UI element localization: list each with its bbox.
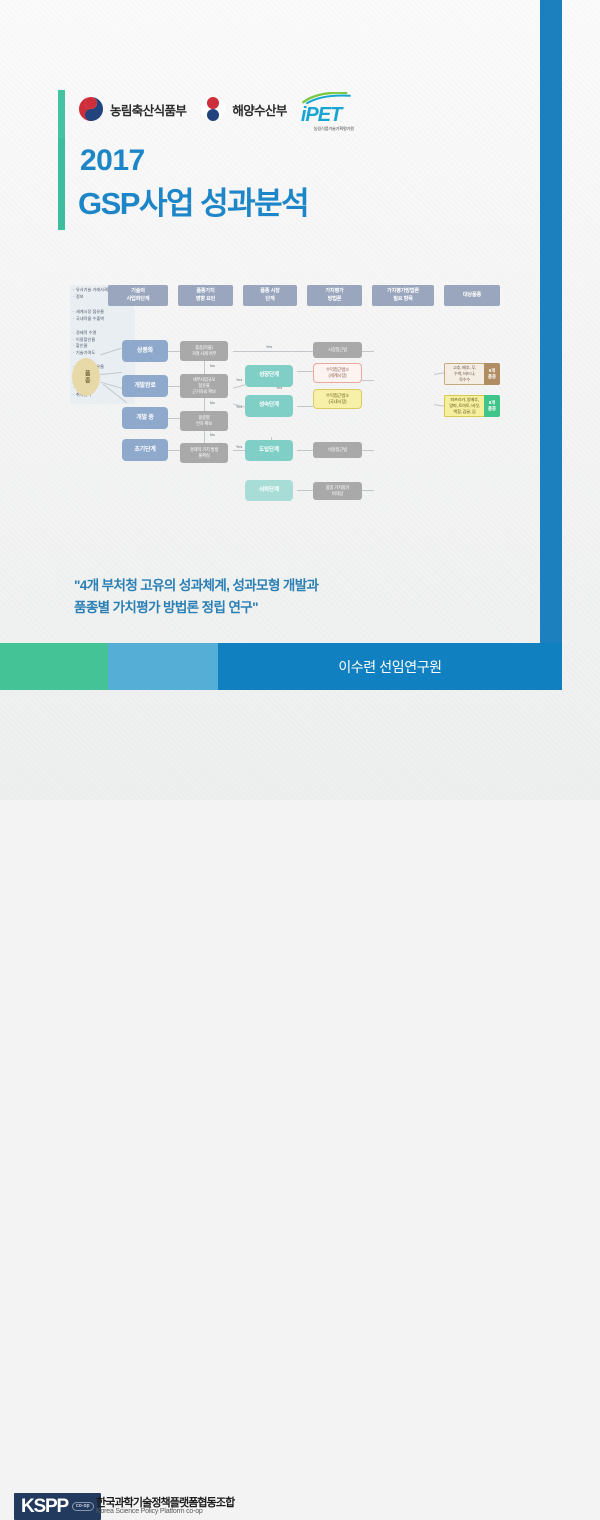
diagram-header-0: 기술의사업화단계 bbox=[108, 285, 168, 306]
edge-label-yes: Yes bbox=[236, 445, 242, 449]
stage-node-2[interactable]: 개발 중 bbox=[122, 407, 168, 429]
edge-label-no: No bbox=[210, 364, 215, 368]
factor-node-1[interactable]: 세부사업규모점유율근거자료 확보 bbox=[180, 374, 228, 398]
edge-label-yes: Yes bbox=[266, 345, 272, 349]
requirement-list-1[interactable]: 세계시장 점유율 국내작물 수출액 bbox=[70, 307, 135, 328]
species-list-1: 파프리카, 양배추,양파, 토마토, 버섯,백합, 감귤, 김 bbox=[444, 395, 484, 417]
species-count-0: 6개품종 bbox=[484, 363, 500, 385]
edge bbox=[168, 386, 180, 387]
edge bbox=[168, 351, 180, 352]
method-node-2[interactable]: 수익접근법②(국내시장) bbox=[313, 389, 362, 409]
kspp-wordmark: KSPP bbox=[21, 1497, 68, 1516]
edge bbox=[362, 351, 374, 352]
edge bbox=[362, 450, 374, 451]
method-node-1[interactable]: 수익접근법①(세계시장) bbox=[313, 363, 362, 383]
page-title: GSP사업 성과분석 bbox=[78, 178, 308, 223]
edge-label-no: No bbox=[210, 401, 215, 405]
organization-name-en: Korea Science Policy Platform co-op bbox=[96, 1508, 203, 1515]
factor-node-3[interactable]: 경제적 가치 발생불확실 bbox=[180, 443, 228, 463]
species-box-1[interactable]: 파프리카, 양배추,양파, 토마토, 버섯,백합, 감귤, 김 8개품종 bbox=[444, 395, 500, 417]
kspp-logo: KSPP co-op bbox=[14, 1493, 101, 1520]
edge bbox=[297, 490, 313, 491]
ipet-logo: iPET 농림식품기술기획평가원 bbox=[301, 92, 367, 126]
diagram-header-5: 대상품종 bbox=[444, 285, 500, 306]
method-node-4[interactable]: 품종 가치평가비대상 bbox=[313, 482, 362, 500]
ministry-logo-group: 농림축산식품부 해양수산부 iPET 농림식품기술기획평가원 bbox=[78, 92, 367, 126]
species-box-0[interactable]: 고추, 배추, 무,수박, 버드나,옥수수 6개품종 bbox=[444, 363, 500, 385]
edge bbox=[297, 371, 313, 372]
flow-diagram: 기술의사업화단계 품종가치영향 요인 품종 시장단계 가치평가방법론 가치평가방… bbox=[70, 285, 500, 535]
edge bbox=[233, 450, 245, 451]
factor-node-2[interactable]: 품종별연차 확보 bbox=[180, 411, 228, 431]
footer: KSPP co-op 한국과학기술정책플랫폼협동조합 Korea Science… bbox=[0, 743, 600, 800]
report-subtitle-quote: "4개 부처청 고유의 성과체계, 성과모형 개발과품종별 가치평가 방법론 정… bbox=[74, 575, 474, 620]
stage-node-3[interactable]: 초기단계 bbox=[122, 439, 168, 461]
diagram-header-3: 가치평가방법론 bbox=[307, 285, 362, 306]
stage-node-1[interactable]: 개발완료 bbox=[122, 375, 168, 397]
diagram-root-node[interactable]: 품종 bbox=[72, 358, 100, 396]
species-list-0: 고추, 배추, 무,수박, 버드나,옥수수 bbox=[444, 363, 484, 385]
edge bbox=[297, 406, 313, 407]
taeguk-emblem-icon bbox=[78, 96, 104, 122]
ministry-label-1: 해양수산부 bbox=[232, 100, 287, 119]
market-stage-node-0[interactable]: 성장단계 bbox=[245, 365, 293, 387]
requirement-item: 국내작물 수출액 bbox=[73, 316, 133, 323]
cover-page: 농림축산식품부 해양수산부 iPET 농림식품기술기획평가원 2017 GS bbox=[0, 0, 600, 800]
method-node-3[interactable]: 비용접근법 bbox=[313, 442, 362, 458]
right-frame-blue-vertical bbox=[540, 0, 562, 690]
edge-label-no: No bbox=[210, 433, 215, 437]
diagram-header-2: 품종 시장단계 bbox=[243, 285, 297, 306]
taeguk-emblem-icon bbox=[200, 96, 226, 122]
edge bbox=[204, 361, 205, 374]
edge bbox=[168, 450, 180, 451]
ministry-logo-1: 해양수산부 bbox=[200, 96, 287, 122]
market-stage-node-2[interactable]: 도입단계 bbox=[245, 440, 293, 461]
ipet-subtitle: 농림식품기술기획평가원 bbox=[301, 126, 367, 132]
market-stage-node-1[interactable]: 성숙단계 bbox=[245, 395, 293, 417]
stage-node-0[interactable]: 상품화 bbox=[122, 340, 168, 362]
edge bbox=[362, 490, 374, 491]
factor-node-0[interactable]: 품종(작물)거래 사례 여부 bbox=[180, 341, 228, 361]
ministry-logo-0: 농림축산식품부 bbox=[78, 96, 186, 122]
page-title-year: 2017 bbox=[80, 144, 145, 178]
author-name: 이수련 선임연구원 bbox=[218, 643, 562, 690]
edge bbox=[233, 384, 245, 388]
edge-label-yes: Yes bbox=[236, 378, 242, 382]
species-count-1: 8개품종 bbox=[484, 395, 500, 417]
author-bar-lightblue-segment bbox=[108, 643, 218, 690]
market-stage-node-3[interactable]: 쇠퇴단계 bbox=[245, 480, 293, 501]
edge bbox=[362, 380, 374, 381]
edge bbox=[233, 351, 313, 352]
ipet-wordmark: iPET bbox=[301, 105, 367, 125]
title-accent-bar-top bbox=[58, 90, 65, 138]
kspp-coop-badge: co-op bbox=[72, 1502, 94, 1511]
edge bbox=[204, 398, 205, 411]
edge-label-yes: Yes bbox=[236, 405, 242, 409]
edge bbox=[204, 430, 205, 443]
edge bbox=[168, 418, 180, 419]
diagram-header-1: 품종가치영향 요인 bbox=[178, 285, 233, 306]
diagram-header-4: 가치평가방법론필요 항목 bbox=[372, 285, 434, 306]
method-node-0[interactable]: 시장접근법 bbox=[313, 342, 362, 358]
edge bbox=[297, 450, 313, 451]
ministry-label-0: 농림축산식품부 bbox=[110, 100, 186, 119]
author-bar-green-segment bbox=[0, 643, 108, 690]
